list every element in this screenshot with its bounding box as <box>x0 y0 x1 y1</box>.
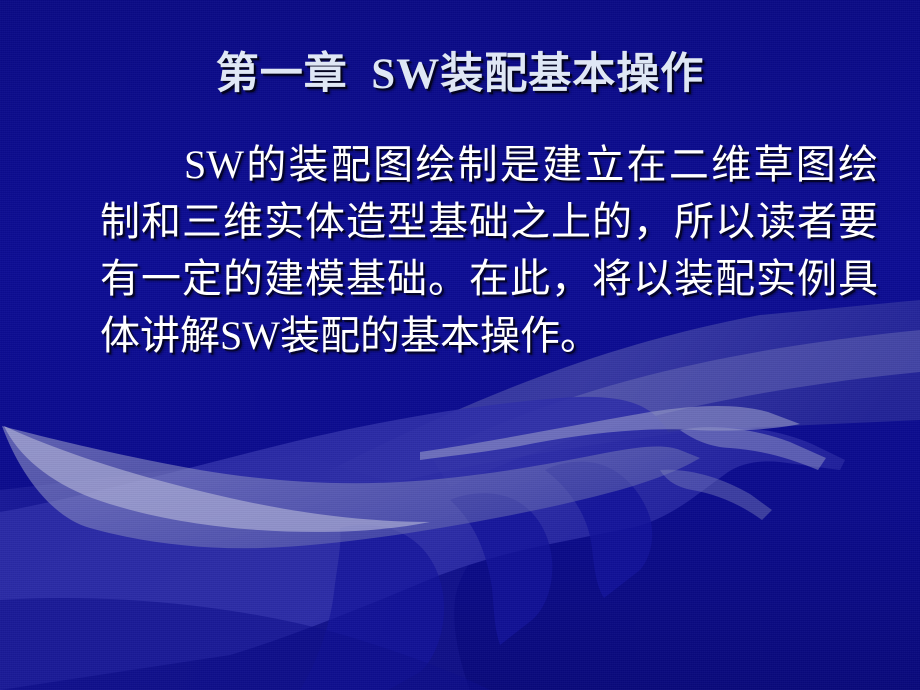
slide-body: SW的装配图绘制是建立在二维草图绘制和三维实体造型基础之上的，所以读者要有一定的… <box>100 136 878 364</box>
presentation-slide: 第一章 SW装配基本操作 SW的装配图绘制是建立在二维草图绘制和三维实体造型基础… <box>0 0 920 690</box>
body-paragraph: SW的装配图绘制是建立在二维草图绘制和三维实体造型基础之上的，所以读者要有一定的… <box>100 136 878 364</box>
slide-title: 第一章 SW装配基本操作 <box>0 52 920 97</box>
